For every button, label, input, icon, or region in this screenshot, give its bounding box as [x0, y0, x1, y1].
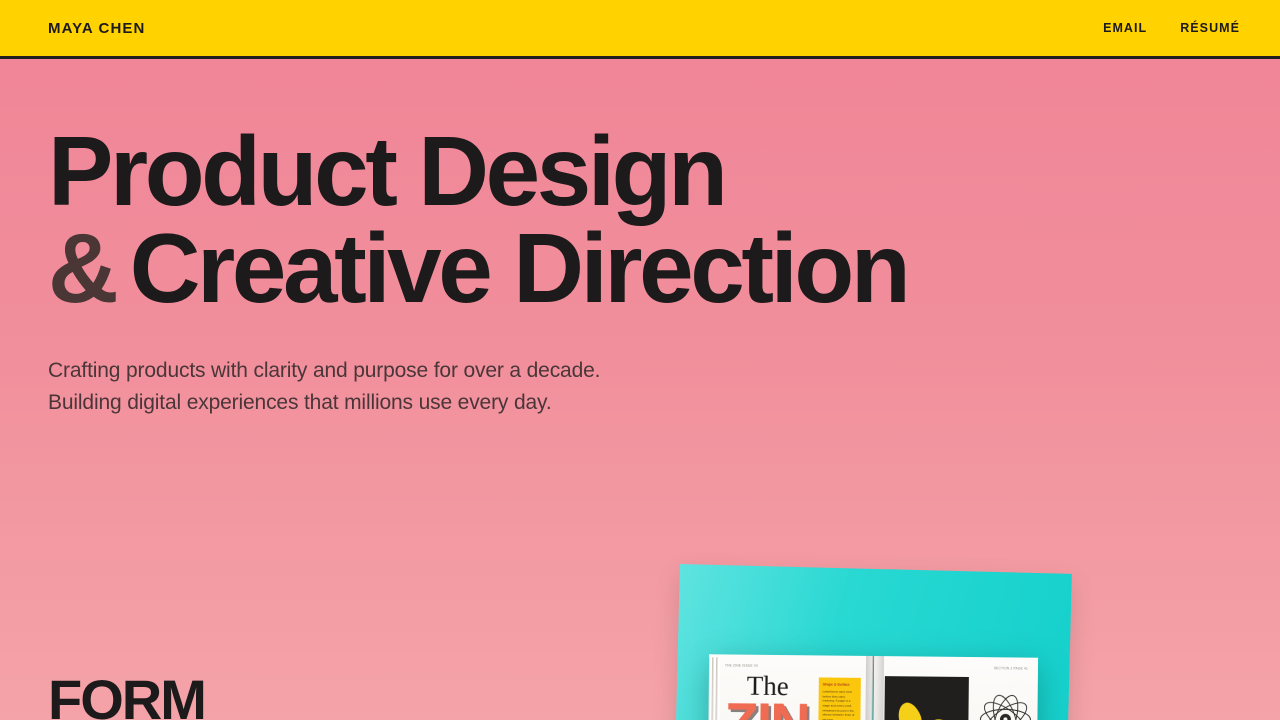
hero-subhead: Crafting products with clarity and purpo… — [48, 355, 808, 419]
nav-link-email[interactable]: EMAIL — [1103, 22, 1147, 35]
subhead-line-2: Building digital experiences that millio… — [48, 387, 808, 419]
section-heading-form: FORM — [48, 672, 205, 720]
callout-body: Letterforms carry tone before they carry… — [822, 689, 856, 720]
black-artwork-panel — [883, 676, 968, 720]
page-title: Product Design &Creative Direction — [48, 123, 1048, 317]
headline-line-2: Creative Direction — [130, 213, 908, 323]
pear-shape-small-icon — [894, 699, 925, 720]
nav-link-resume[interactable]: RÉSUMÉ — [1180, 22, 1240, 35]
magazine-left-page: THE ZINE ISSUE 04 The ZIN Shape & Surfac… — [707, 654, 873, 720]
zine-yellow-callout: Shape & Surface Letterforms carry tone b… — [818, 677, 861, 720]
callout-heading: Shape & Surface — [823, 682, 857, 687]
page-edge-stack — [707, 657, 720, 720]
nav-links: EMAIL RÉSUMÉ — [1103, 22, 1240, 35]
left-page-meta: THE ZINE ISSUE 04 — [725, 663, 758, 668]
magazine-spine — [864, 656, 884, 720]
headline-ampersand: & — [48, 213, 130, 323]
atom-diagram-icon — [977, 691, 1034, 720]
brand-name[interactable]: MAYA CHEN — [48, 21, 145, 36]
subhead-line-1: Crafting products with clarity and purpo… — [48, 355, 808, 387]
zine-title-word: ZIN — [724, 694, 809, 720]
open-magazine: THE ZINE ISSUE 04 The ZIN Shape & Surfac… — [707, 654, 1039, 720]
headline-line-2-wrap: &Creative Direction — [48, 220, 1048, 317]
top-navbar: MAYA CHEN EMAIL RÉSUMÉ — [0, 0, 1280, 59]
headline-line-1: Product Design — [48, 123, 1048, 220]
hero-section: Product Design &Creative Direction Craft… — [0, 59, 1280, 419]
magazine-right-page: SECTION 2 PAGE 41 — [872, 656, 1038, 720]
magazine-photo: THE ZINE ISSUE 04 The ZIN Shape & Surfac… — [672, 558, 1080, 720]
portfolio-page: MAYA CHEN EMAIL RÉSUMÉ Product Design &C… — [0, 0, 1280, 720]
right-page-meta: SECTION 2 PAGE 41 — [994, 666, 1028, 671]
